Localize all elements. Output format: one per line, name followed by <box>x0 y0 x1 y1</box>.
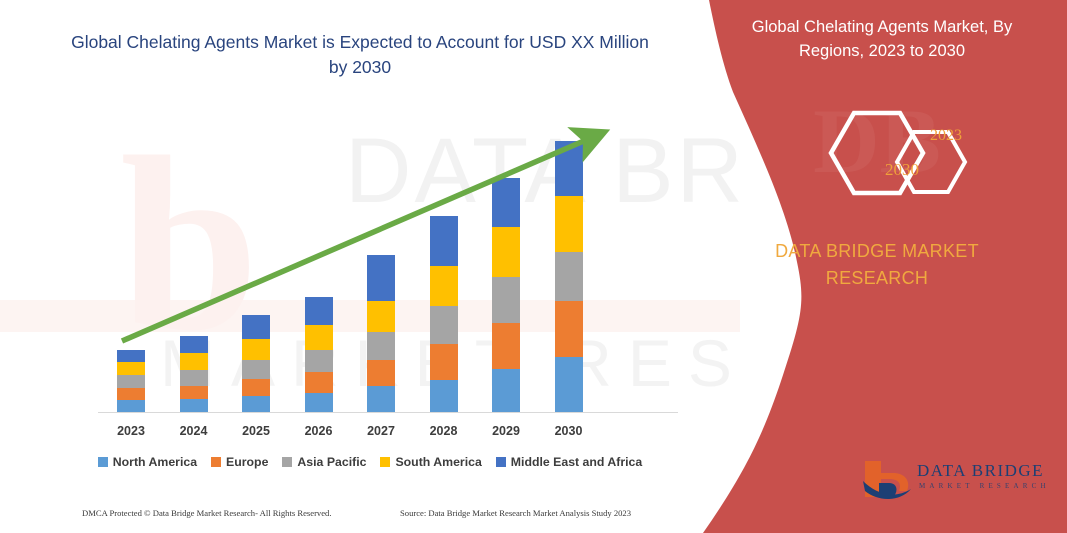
bar-segment[interactable] <box>180 353 208 370</box>
legend-item[interactable]: North America <box>98 455 197 469</box>
data-bridge-logo: DATA BRIDGE MARKET RESEARCH <box>859 455 1049 511</box>
x-axis-label-2026: 2026 <box>289 424 349 438</box>
bar-segment[interactable] <box>305 297 333 325</box>
legend-swatch-icon <box>380 457 390 467</box>
bar-segment[interactable] <box>305 393 333 412</box>
x-axis-label-2024: 2024 <box>164 424 224 438</box>
hexagon-label-2023: 2023 <box>930 127 962 145</box>
bar-segment[interactable] <box>492 369 520 412</box>
bar-segment[interactable] <box>430 380 458 412</box>
x-axis-label-2030: 2030 <box>539 424 599 438</box>
bar-segment[interactable] <box>117 362 145 375</box>
bar-segment[interactable] <box>242 315 270 339</box>
logo-tagline: MARKET RESEARCH <box>919 482 1050 490</box>
bar-segment[interactable] <box>367 360 395 386</box>
brand-line-2: RESEARCH <box>727 265 1027 292</box>
legend-item[interactable]: Europe <box>211 455 268 469</box>
bar-segment[interactable] <box>367 301 395 332</box>
bar-segment[interactable] <box>492 277 520 323</box>
legend-item[interactable]: South America <box>380 455 481 469</box>
bar-segment[interactable] <box>430 266 458 306</box>
bar-segment[interactable] <box>117 400 145 412</box>
bar-segment[interactable] <box>117 388 145 400</box>
bar-segment[interactable] <box>492 178 520 227</box>
bar-segment[interactable] <box>242 339 270 360</box>
legend-label: North America <box>113 455 197 469</box>
brand-line-1: DATA BRIDGE MARKET <box>727 238 1027 265</box>
bar-segment[interactable] <box>430 306 458 344</box>
footer-source: Source: Data Bridge Market Research Mark… <box>400 508 631 518</box>
hexagons-svg <box>687 0 1067 260</box>
bar-segment[interactable] <box>555 301 583 357</box>
bar-2025[interactable] <box>242 315 270 412</box>
bar-segment[interactable] <box>430 216 458 266</box>
logo-mark-icon <box>859 457 915 503</box>
bar-2027[interactable] <box>367 255 395 412</box>
bar-2028[interactable] <box>430 216 458 412</box>
bar-segment[interactable] <box>242 360 270 379</box>
legend-item[interactable]: Middle East and Africa <box>496 455 642 469</box>
bar-segment[interactable] <box>180 386 208 399</box>
logo-wordmark: DATA BRIDGE <box>917 461 1044 481</box>
legend-label: Asia Pacific <box>297 455 366 469</box>
bar-segment[interactable] <box>555 196 583 252</box>
bar-segment[interactable] <box>367 386 395 412</box>
legend-swatch-icon <box>98 457 108 467</box>
right-red-panel: DB Global Chelating Agents Market, By Re… <box>687 0 1067 533</box>
bar-segment[interactable] <box>430 344 458 380</box>
bar-2026[interactable] <box>305 297 333 412</box>
legend-label: South America <box>395 455 481 469</box>
legend-swatch-icon <box>211 457 221 467</box>
brand-name: DATA BRIDGE MARKET RESEARCH <box>727 238 1027 292</box>
legend-swatch-icon <box>282 457 292 467</box>
bar-segment[interactable] <box>367 255 395 301</box>
chart-legend: North AmericaEuropeAsia PacificSouth Ame… <box>0 455 740 469</box>
bar-segment[interactable] <box>555 357 583 412</box>
x-axis-label-2027: 2027 <box>351 424 411 438</box>
bar-segment[interactable] <box>117 350 145 362</box>
bar-segment[interactable] <box>492 323 520 369</box>
hexagon-label-2030: 2030 <box>885 160 919 180</box>
bar-segment[interactable] <box>117 375 145 388</box>
bar-2030[interactable] <box>555 141 583 412</box>
bar-segment[interactable] <box>367 332 395 360</box>
hexagon-group: 2030 2023 <box>687 0 1067 260</box>
legend-item[interactable]: Asia Pacific <box>282 455 366 469</box>
legend-swatch-icon <box>496 457 506 467</box>
legend-label: Europe <box>226 455 268 469</box>
bar-segment[interactable] <box>555 141 583 196</box>
bar-2029[interactable] <box>492 178 520 412</box>
chart-plot-area <box>0 0 740 533</box>
bar-segment[interactable] <box>180 336 208 353</box>
x-axis-label-2028: 2028 <box>414 424 474 438</box>
bar-segment[interactable] <box>555 252 583 301</box>
legend-label: Middle East and Africa <box>511 455 642 469</box>
x-axis-label-2025: 2025 <box>226 424 286 438</box>
bar-2024[interactable] <box>180 336 208 412</box>
bar-segment[interactable] <box>305 350 333 372</box>
bar-2023[interactable] <box>117 350 145 412</box>
bar-segment[interactable] <box>180 399 208 412</box>
x-axis-label-2023: 2023 <box>101 424 161 438</box>
x-axis-label-2029: 2029 <box>476 424 536 438</box>
x-axis-line <box>98 412 678 413</box>
footer-copyright: DMCA Protected © Data Bridge Market Rese… <box>82 508 332 518</box>
bar-segment[interactable] <box>305 372 333 393</box>
infographic-root: b DATA BRIDGE MARKET RESEARCH Global Che… <box>0 0 1067 533</box>
bar-segment[interactable] <box>242 379 270 396</box>
bar-segment[interactable] <box>305 325 333 350</box>
bar-segment[interactable] <box>492 227 520 277</box>
bar-segment[interactable] <box>242 396 270 412</box>
bar-segment[interactable] <box>180 370 208 386</box>
x-axis-labels: 20232024202520262027202820292030 <box>0 424 740 444</box>
